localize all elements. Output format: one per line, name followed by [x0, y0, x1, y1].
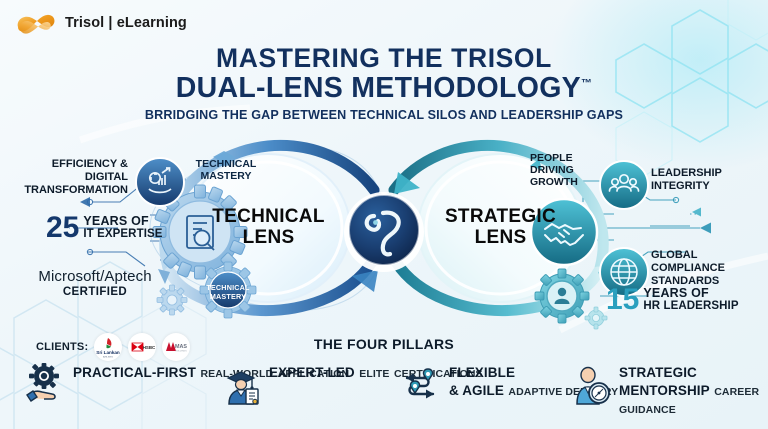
brand-logo[interactable]: Trisol | eLearning	[14, 8, 187, 38]
graduate-certificate-icon	[222, 362, 262, 406]
trademark-symbol: ™	[581, 77, 592, 89]
microsoft-aptech-certified: Microsoft/Aptech CERTIFIED	[20, 268, 170, 298]
infographic-root: Trisol | eLearning MASTERING THE TRISOL …	[0, 0, 768, 429]
trisol-infinity-ribbon-logo	[14, 8, 58, 38]
pillar-heading: PRACTICAL-FIRST	[73, 365, 196, 380]
page-title-line1: MASTERING THE TRISOL	[0, 44, 768, 73]
winding-route-pins-icon	[402, 362, 442, 406]
page-title-line2-text: DUAL-LENS METHODOLOGY	[176, 72, 581, 104]
technical-mastery-top-label: TECHNICAL MASTERY	[186, 158, 266, 182]
hand-gear-icon	[26, 362, 66, 406]
people-driving-growth-label: PEOPLE DRIVING GROWTH	[530, 152, 600, 189]
certified-line1: Microsoft/Aptech	[20, 268, 170, 285]
years-it-expertise-stat: 25 YEARS OF IT EXPERTISE	[46, 214, 163, 242]
certified-line2: CERTIFIED	[20, 286, 170, 298]
title-block: MASTERING THE TRISOL DUAL-LENS METHODOLO…	[0, 44, 768, 122]
hand-gear-growth-chart-icon	[136, 158, 184, 206]
page-title-line2: DUAL-LENS METHODOLOGY™	[176, 73, 593, 104]
years-hr-leadership-stat: 15 YEARS OF HR LEADERSHIP	[606, 286, 739, 314]
years-hr-line1: YEARS OF	[643, 286, 738, 300]
brand-name: Trisol | eLearning	[65, 15, 187, 31]
pillar-heading: FLEXIBLE & AGILE	[449, 365, 515, 398]
pillars-title: THE FOUR PILLARS	[0, 336, 768, 352]
years-it-line2: IT EXPERTISE	[83, 228, 162, 241]
leadership-integrity-label: LEADERSHIP INTEGRITY	[651, 167, 761, 193]
pillar-strategic-mentorship[interactable]: STRATEGIC MENTORSHIP CAREER GUIDANCE	[572, 362, 768, 418]
global-compliance-label: GLOBAL COMPLIANCE STANDARDS	[651, 249, 766, 287]
svg-text:AIRLINES: AIRLINES	[103, 356, 114, 359]
pillar-heading: STRATEGIC MENTORSHIP	[619, 365, 710, 398]
years-hr-number: 15	[606, 286, 639, 314]
technical-mastery-badge-label: TECHNICAL MASTERY	[203, 283, 253, 301]
years-it-line1: YEARS OF	[83, 214, 162, 228]
years-it-number: 25	[46, 214, 79, 242]
gear-person-icon	[535, 269, 589, 323]
years-hr-line2: HR LEADERSHIP	[643, 300, 738, 313]
pillar-sub1: ELITE	[359, 368, 389, 380]
people-group-icon	[600, 161, 648, 209]
strategic-lens-label: STRATEGIC LENS	[428, 207, 573, 249]
efficiency-label: EFFICIENCY & DIGITAL TRANSFORMATION	[10, 158, 128, 196]
pillar-heading: EXPERT-LED	[269, 365, 355, 380]
page-subtitle: BRRIDGING THE GAP BETWEEN TECHNICAL SILO…	[0, 108, 768, 122]
mentor-compass-icon	[572, 362, 612, 406]
technical-lens-label: TECHNICAL LENS	[196, 207, 341, 249]
